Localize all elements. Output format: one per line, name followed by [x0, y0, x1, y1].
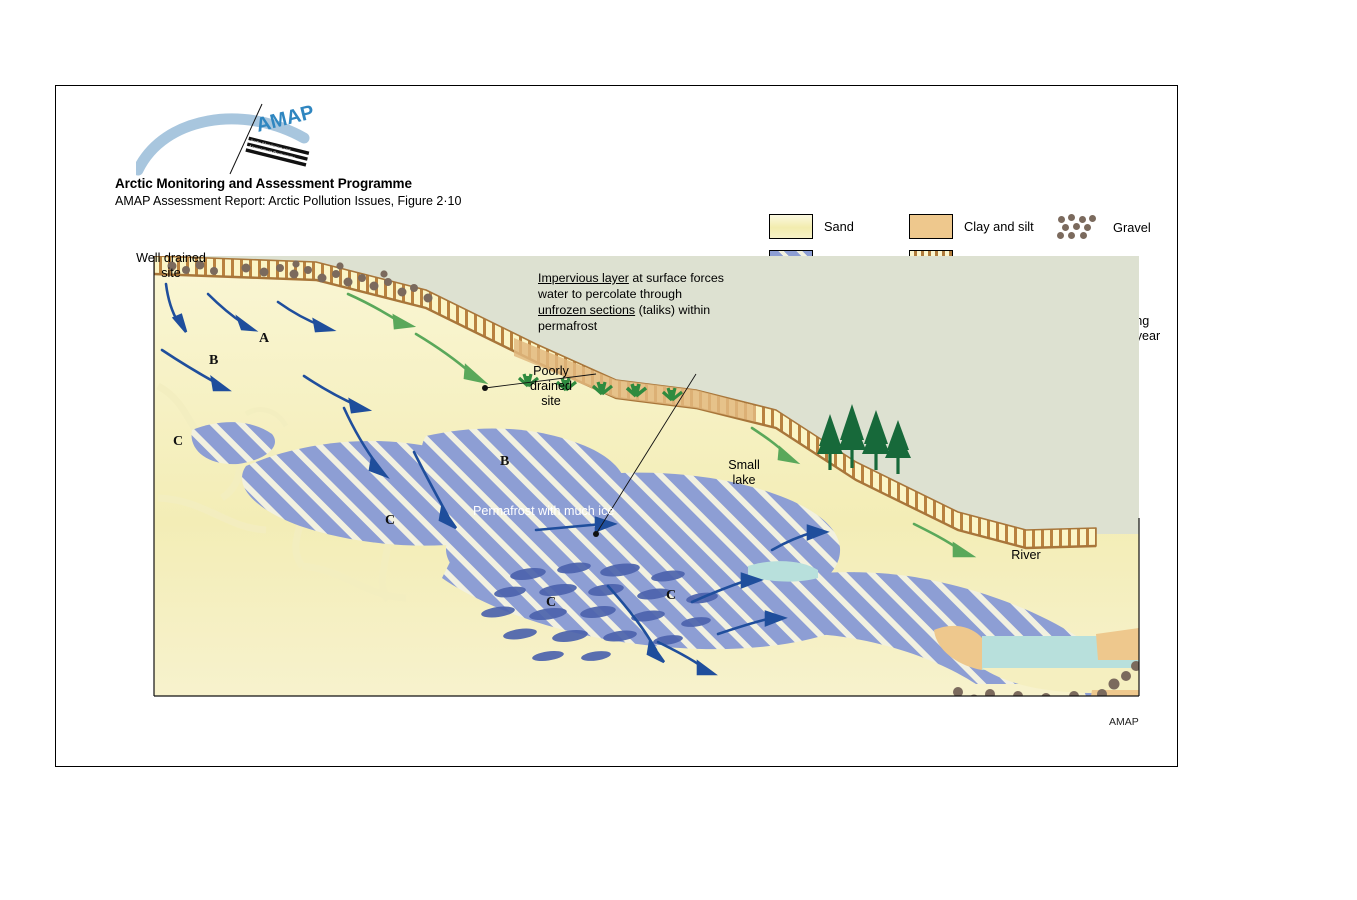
marker-c-mid-left: C [385, 513, 395, 529]
amap-logo-block: AMAP Arctic Monitoring and Assessment Pr… [86, 98, 506, 198]
amap-logo-icon: AMAP Arctic Monitoring and Assessment Pr… [136, 98, 346, 178]
callout-line1-underlined: Impervious layer [538, 271, 629, 285]
org-title: Arctic Monitoring and Assessment Program… [115, 176, 412, 191]
ice-caption: Permafrost with much ice [473, 504, 614, 518]
river-label: River [996, 548, 1056, 563]
marker-b-left: B [209, 353, 218, 369]
callout-line1-rest: at surface forces [629, 271, 724, 285]
small-lake-label: Small lake [714, 458, 774, 488]
callout-line3-underlined: unfrozen sections [538, 303, 635, 317]
marker-b-center: B [500, 454, 509, 470]
callout-line4: permafrost [538, 319, 597, 333]
callout-line2: water to percolate through [538, 287, 682, 301]
poorly-drained-site-label: Poorly drained site [506, 364, 596, 409]
talik-callout: Impervious layer at surface forces water… [538, 271, 738, 335]
amap-credit: AMAP [1109, 716, 1139, 728]
marker-c-lower-center: C [546, 595, 556, 611]
marker-c-lower-right: C [666, 588, 676, 604]
figure-frame: AMAP Arctic Monitoring and Assessment Pr… [55, 85, 1178, 767]
callout-line3-rest: (taliks) within [635, 303, 710, 317]
marker-c-upper-left: C [173, 434, 183, 450]
well-drained-site-label: Well drained site [116, 251, 226, 281]
figure-page: AMAP Arctic Monitoring and Assessment Pr… [0, 0, 1357, 900]
marker-a: A [259, 331, 269, 347]
